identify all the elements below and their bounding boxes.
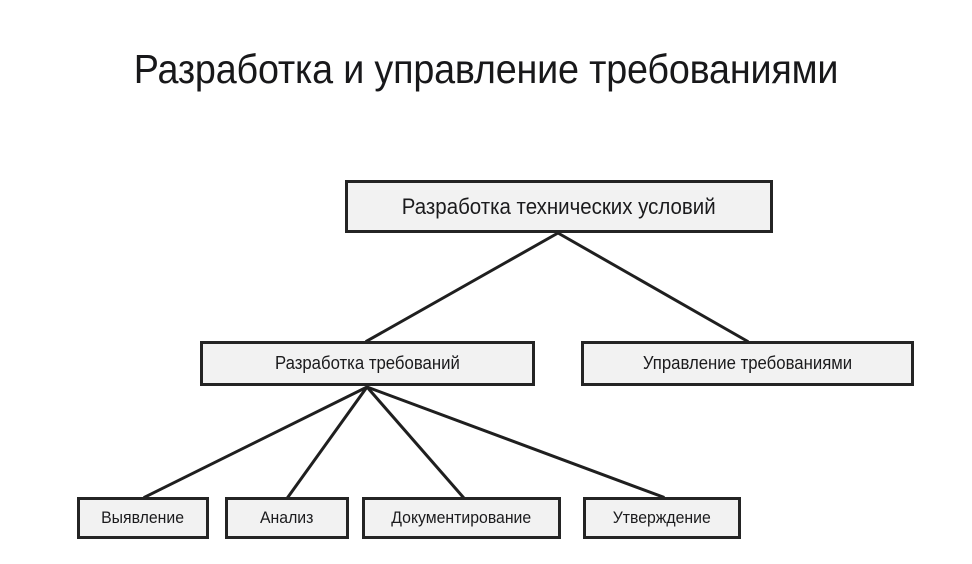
edge-dev-to-analysis [288, 387, 367, 497]
edge-dev-to-approve [367, 387, 663, 497]
edge-dev-to-doc [367, 387, 463, 497]
hierarchy-diagram: Разработка технических условий Разработк… [0, 0, 972, 564]
node-documentation[interactable]: Документирование [362, 497, 561, 539]
node-approval[interactable]: Утверждение [583, 497, 741, 539]
edge-root-to-dev [367, 233, 558, 341]
node-approval-label: Утверждение [613, 508, 711, 528]
node-analysis[interactable]: Анализ [225, 497, 349, 539]
node-elicitation[interactable]: Выявление [77, 497, 209, 539]
node-root-label: Разработка технических условий [402, 194, 716, 220]
node-requirements-development[interactable]: Разработка требований [200, 341, 535, 386]
node-analysis-label: Анализ [260, 508, 313, 528]
node-requirements-management[interactable]: Управление требованиями [581, 341, 914, 386]
node-documentation-label: Документирование [392, 508, 532, 528]
node-requirements-development-label: Разработка требований [275, 353, 460, 374]
connector-lines [0, 0, 972, 564]
node-requirements-management-label: Управление требованиями [643, 353, 852, 374]
node-root[interactable]: Разработка технических условий [345, 180, 773, 233]
slide-canvas: Разработка и управление требованиями Раз… [0, 0, 972, 564]
node-elicitation-label: Выявление [102, 508, 185, 528]
edge-root-to-mgmt [558, 233, 747, 341]
edge-dev-to-elicit [145, 387, 367, 497]
